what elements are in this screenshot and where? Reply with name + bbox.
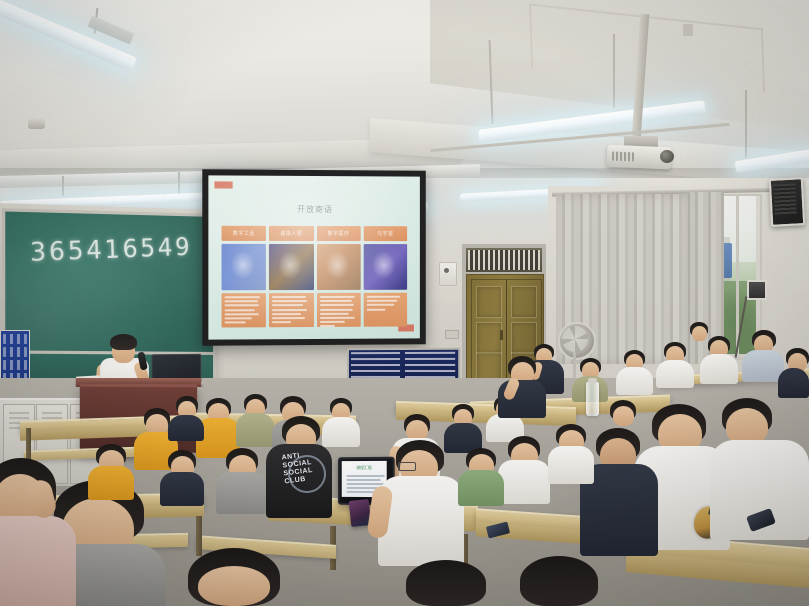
slide-caption-4 bbox=[363, 293, 407, 327]
torso bbox=[378, 476, 464, 566]
desk-leg bbox=[196, 516, 202, 556]
slide-title: 开放寄语 bbox=[212, 204, 416, 216]
sprinkler-icon bbox=[683, 24, 693, 36]
projection-screen: 开放寄语 数字工业 虚拟人居 数字医疗 元宇宙 bbox=[208, 175, 419, 339]
slide-caption-2 bbox=[269, 293, 313, 327]
glasses-icon bbox=[398, 462, 416, 471]
head bbox=[692, 326, 707, 341]
door-panel bbox=[476, 322, 502, 354]
fan-stand bbox=[573, 352, 576, 378]
torso bbox=[160, 472, 204, 506]
torso bbox=[216, 472, 266, 514]
slide-grid: 数字工业 虚拟人居 数字医疗 元宇宙 bbox=[222, 226, 408, 328]
slide-column-header-2: 虚拟人居 bbox=[269, 226, 313, 241]
doc-line bbox=[347, 475, 385, 477]
slide-image-4 bbox=[363, 244, 407, 290]
door-panel bbox=[476, 286, 502, 318]
fan-blades bbox=[562, 326, 588, 352]
torso bbox=[88, 466, 134, 500]
doc-line bbox=[347, 483, 387, 485]
laptop-doc-title: 课程汇报 bbox=[342, 465, 387, 471]
light-switch-button[interactable] bbox=[444, 268, 449, 273]
light-hanger bbox=[178, 172, 180, 194]
slide-image-1 bbox=[222, 244, 267, 290]
torso bbox=[236, 413, 274, 447]
power-outlet-icon bbox=[445, 330, 459, 339]
slide-column-header-3: 数字医疗 bbox=[316, 226, 360, 241]
presentation-slide: 开放寄语 数字工业 虚拟人居 数字医疗 元宇宙 bbox=[212, 179, 416, 335]
torso bbox=[458, 470, 504, 506]
poster-line bbox=[3, 347, 27, 357]
slide-image-2 bbox=[269, 244, 313, 290]
smoke-detector-icon bbox=[28, 118, 45, 129]
light-hanger bbox=[745, 90, 747, 158]
slide-corner-accent bbox=[214, 181, 232, 188]
water-bottle bbox=[586, 382, 599, 416]
torso bbox=[548, 446, 594, 484]
doc-line bbox=[347, 487, 378, 489]
doc-line bbox=[347, 479, 381, 481]
torso bbox=[168, 415, 204, 441]
head bbox=[613, 406, 634, 426]
slide-image-highlight bbox=[231, 252, 256, 281]
torso bbox=[616, 367, 653, 395]
door-panel bbox=[511, 286, 537, 318]
light-switch-icon[interactable] bbox=[439, 262, 457, 286]
slide-caption-3 bbox=[316, 293, 360, 327]
wall-junction-box bbox=[747, 280, 767, 300]
slide-image-highlight bbox=[373, 252, 397, 280]
slide-column-header-1: 数字工业 bbox=[222, 226, 267, 241]
torso bbox=[322, 417, 360, 447]
slide-image-3 bbox=[316, 244, 360, 290]
light-hanger bbox=[613, 34, 615, 108]
torso bbox=[498, 460, 550, 504]
classroom-photo: 365416549 开放寄语 数字工业 虚拟人居 数字医疗 元宇宙 bbox=[0, 0, 809, 606]
slide-image-highlight bbox=[279, 252, 304, 281]
slide-column-header-4: 元宇宙 bbox=[363, 226, 407, 241]
door-panel bbox=[511, 322, 537, 354]
presenter-hair bbox=[110, 334, 137, 350]
projector-vent bbox=[612, 152, 634, 162]
torso bbox=[700, 354, 738, 384]
hair bbox=[520, 556, 598, 606]
torso bbox=[656, 360, 694, 388]
door-handle[interactable] bbox=[500, 330, 503, 340]
transom-grille bbox=[468, 250, 540, 270]
hair bbox=[406, 560, 486, 606]
bottle-cap bbox=[588, 378, 597, 383]
speaker-grille bbox=[773, 183, 797, 214]
head bbox=[198, 566, 270, 606]
tee-graphic-text: ANTI SOCIAL SOCIAL CLUB bbox=[281, 450, 327, 487]
torso bbox=[0, 516, 76, 606]
torso bbox=[778, 368, 809, 398]
slide-image-highlight bbox=[326, 252, 351, 280]
poster-line bbox=[3, 334, 27, 344]
slide-caption-1 bbox=[222, 293, 267, 327]
torso bbox=[498, 380, 546, 418]
light-hanger bbox=[62, 176, 64, 196]
poster-line bbox=[3, 360, 27, 370]
chalkboard bbox=[2, 208, 216, 366]
